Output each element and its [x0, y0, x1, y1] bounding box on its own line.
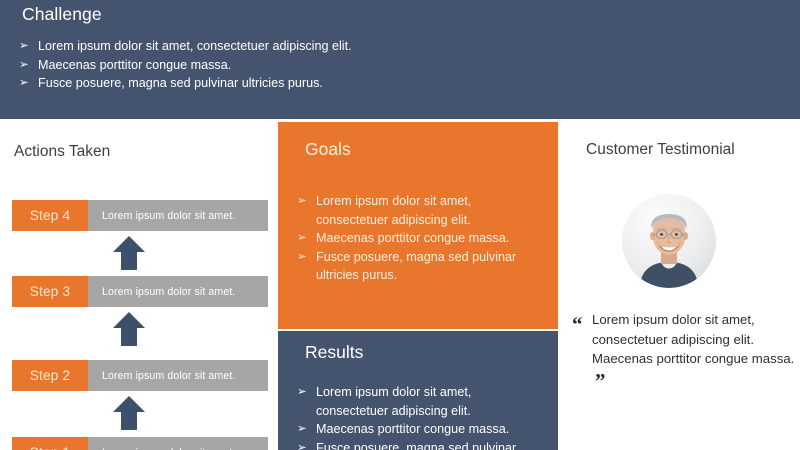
arrow-bullet-icon: ➢ [16, 57, 38, 75]
step-description: Lorem ipsum dolor sit amet. [88, 200, 268, 231]
list-item: ➢ Lorem ipsum dolor sit amet, consectetu… [292, 383, 550, 420]
quote-open-icon: “ [572, 314, 583, 335]
step-row-1[interactable]: Step 1 Lorem ipsum dolor sit amet. [12, 437, 268, 450]
avatar [622, 194, 716, 288]
step-label: Step 4 [12, 200, 88, 231]
step-row-2[interactable]: Step 2 Lorem ipsum dolor sit amet. [12, 360, 268, 391]
results-bullet-list: ➢ Lorem ipsum dolor sit amet, consectetu… [292, 383, 550, 450]
challenge-bullet-list: ➢ Lorem ipsum dolor sit amet, consectetu… [16, 38, 776, 94]
list-item: ➢ Fusce posuere, magna sed pulvinar ultr… [16, 75, 776, 93]
goals-bullet-list: ➢ Lorem ipsum dolor sit amet, consectetu… [292, 192, 550, 285]
list-item-text: Fusce posuere, magna sed pulvinar ultric… [316, 439, 542, 450]
customer-testimonial-section: Customer Testimonial [558, 119, 800, 450]
step-label: Step 2 [12, 360, 88, 391]
list-item-text: Lorem ipsum dolor sit amet, consectetuer… [316, 383, 542, 420]
testimonial-quote-text: Lorem ipsum dolor sit amet, consectetuer… [592, 310, 798, 390]
challenge-title: Challenge [22, 4, 102, 25]
quote-body: Lorem ipsum dolor sit amet, consectetuer… [592, 312, 794, 366]
step-row-4[interactable]: Step 4 Lorem ipsum dolor sit amet. [12, 200, 268, 231]
list-item: ➢ Lorem ipsum dolor sit amet, consectetu… [292, 192, 550, 229]
step-label: Step 1 [12, 437, 88, 450]
up-arrow-icon [112, 311, 146, 347]
arrow-bullet-icon: ➢ [292, 439, 316, 450]
step-label: Step 3 [12, 276, 88, 307]
list-item: ➢ Maecenas porttitor congue massa. [292, 229, 550, 248]
arrow-bullet-icon: ➢ [292, 248, 316, 267]
step-description: Lorem ipsum dolor sit amet. [88, 360, 268, 391]
step-description: Lorem ipsum dolor sit amet. [88, 437, 268, 450]
goals-title: Goals [305, 139, 351, 160]
list-item-text: Maecenas porttitor congue massa. [316, 420, 509, 439]
slide-canvas: Challenge ➢ Lorem ipsum dolor sit amet, … [0, 0, 800, 450]
list-item-text: Fusce posuere, magna sed pulvinar ultric… [316, 248, 542, 285]
list-item-text: Lorem ipsum dolor sit amet, consectetuer… [38, 38, 352, 56]
step-description: Lorem ipsum dolor sit amet. [88, 276, 268, 307]
list-item: ➢ Fusce posuere, magna sed pulvinar ultr… [292, 248, 550, 285]
list-item-text: Maecenas porttitor congue massa. [316, 229, 509, 248]
arrow-bullet-icon: ➢ [292, 192, 316, 211]
list-item: ➢ Maecenas porttitor congue massa. [292, 420, 550, 439]
up-arrow-icon [112, 235, 146, 271]
list-item: ➢ Lorem ipsum dolor sit amet, consectetu… [16, 38, 776, 56]
step-row-3[interactable]: Step 3 Lorem ipsum dolor sit amet. [12, 276, 268, 307]
actions-taken-section: Actions Taken Step 4 Lorem ipsum dolor s… [0, 119, 278, 450]
arrow-bullet-icon: ➢ [292, 383, 316, 402]
quote-close-icon: ” [595, 372, 606, 392]
customer-testimonial-title: Customer Testimonial [586, 141, 735, 159]
steps-stack: Step 4 Lorem ipsum dolor sit amet. Step … [0, 119, 278, 450]
list-item: ➢ Maecenas porttitor congue massa. [16, 57, 776, 75]
testimonial-quote: “ Lorem ipsum dolor sit amet, consectetu… [572, 310, 798, 390]
results-title: Results [305, 342, 363, 363]
list-item: ➢ Fusce posuere, magna sed pulvinar ultr… [292, 439, 550, 450]
results-section: Results ➢ Lorem ipsum dolor sit amet, co… [278, 331, 558, 450]
list-item-text: Fusce posuere, magna sed pulvinar ultric… [38, 75, 323, 93]
up-arrow-icon [112, 395, 146, 431]
arrow-bullet-icon: ➢ [16, 38, 38, 56]
arrow-bullet-icon: ➢ [292, 420, 316, 439]
arrow-bullet-icon: ➢ [292, 229, 316, 248]
arrow-bullet-icon: ➢ [16, 75, 38, 93]
list-item-text: Maecenas porttitor congue massa. [38, 57, 231, 75]
challenge-section: Challenge ➢ Lorem ipsum dolor sit amet, … [0, 0, 800, 119]
goals-section: Goals ➢ Lorem ipsum dolor sit amet, cons… [278, 122, 558, 329]
list-item-text: Lorem ipsum dolor sit amet, consectetuer… [316, 192, 542, 229]
